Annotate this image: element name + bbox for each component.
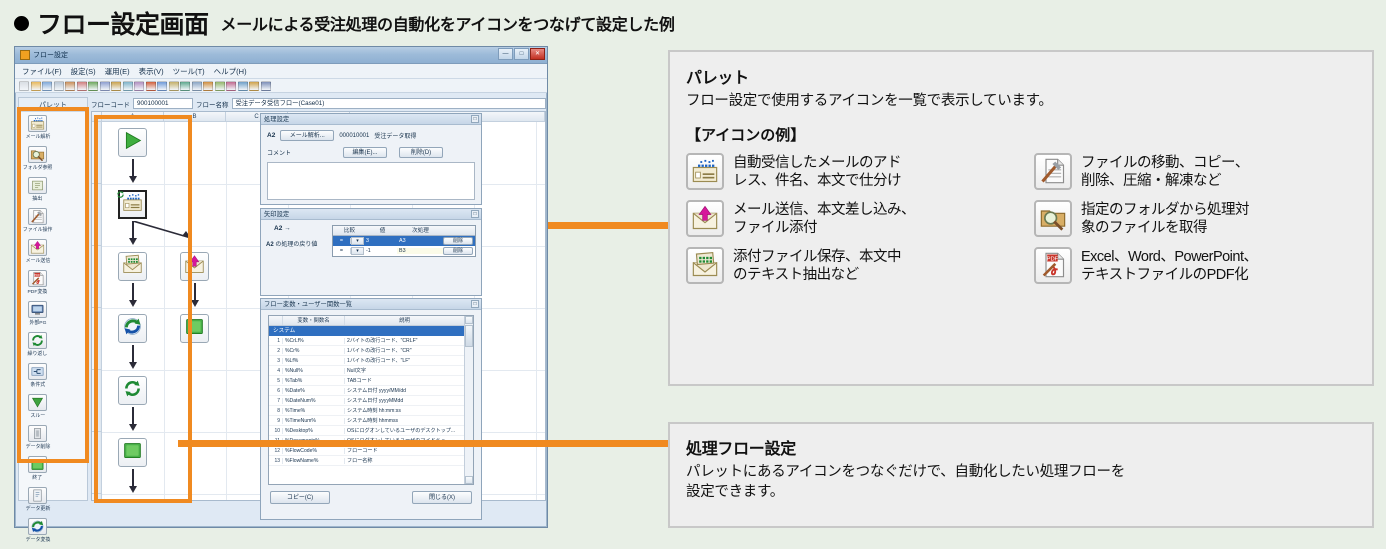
menu-view[interactable]: 表示(V) <box>139 66 164 77</box>
delete-button[interactable]: 削除(D) <box>399 147 443 158</box>
toolbar-button-10[interactable] <box>123 81 133 91</box>
toolbar-button-12[interactable] <box>146 81 156 91</box>
menu-help[interactable]: ヘルプ(H) <box>214 66 247 77</box>
variable-name: %Tab% <box>283 378 345 384</box>
attachment-save-icon <box>686 247 724 284</box>
icon-examples-left-column: 自動受信したメールのアドレス、件名、本文で仕分け メール送信、本文差し込み、ファ… <box>686 153 1008 294</box>
variable-no: 8 <box>269 408 283 414</box>
arrow-from-label: A2 <box>274 225 282 232</box>
variable-name: %Desktop% <box>283 428 345 434</box>
variable-row[interactable]: 12%FlowCode%フローコード <box>269 446 464 456</box>
variable-name: %FlowCode% <box>283 448 345 454</box>
palette-callout-body: フロー設定で使用するアイコンを一覧で表示しています。 <box>686 92 1356 112</box>
palette-item-label: 終了 <box>33 474 43 481</box>
variable-no: 1 <box>269 338 283 344</box>
variable-name: %Time% <box>283 408 345 414</box>
arrow-condition-row[interactable]: =▾3A3削除 <box>333 236 475 246</box>
menu-file[interactable]: ファイル(F) <box>22 66 62 77</box>
arrow-dialog-title-text: 矢印設定 <box>264 211 289 218</box>
pdf-convert-icon: PDF <box>1034 247 1072 284</box>
toolbar-button-11[interactable] <box>134 81 144 91</box>
arrow-compare-dropdown[interactable]: ▾ <box>351 247 364 255</box>
variable-desc: OSにログオンしているユーザのデスクトップ... <box>345 427 464 434</box>
menu-tools[interactable]: ツール(T) <box>173 66 205 77</box>
minimize-button[interactable]: — <box>498 48 513 60</box>
variable-desc: システム時刻 hh:mm:ss <box>345 407 464 414</box>
variable-row[interactable]: 13%FlowName%フロー名称 <box>269 456 464 466</box>
menu-operation[interactable]: 運用(E) <box>105 66 130 77</box>
variable-no: 9 <box>269 418 283 424</box>
app-logo-icon <box>20 50 30 60</box>
icon-example-row: 指定のフォルダから処理対象のファイルを取得 <box>1034 200 1356 238</box>
arrow-compare-dropdown[interactable]: ▾ <box>351 237 364 245</box>
process-dialog-title-text: 処理設定 <box>264 116 289 123</box>
flow-arrow[interactable] <box>194 283 196 301</box>
arrow-delete-button[interactable]: 削除 <box>443 247 473 255</box>
palette-item-12[interactable]: データ更新 <box>21 487 54 512</box>
process-dialog-close-icon[interactable]: □ <box>471 115 479 123</box>
icon-example-row: 自動受信したメールのアドレス、件名、本文で仕分け <box>686 153 1008 191</box>
icon-example-text: ファイルの移動、コピー、削除、圧縮・解凍など <box>1081 153 1249 191</box>
arrow-col-next: 次処理 <box>399 226 442 235</box>
file-operation-icon <box>1034 153 1072 190</box>
icon-example-row: PDF Excel、Word、PowerPoint、テキストファイルのPDF化 <box>1034 247 1356 285</box>
icon-example-row: 添付ファイル保存、本文中のテキスト抽出など <box>686 247 1008 285</box>
variable-name: %DateNum% <box>283 398 345 404</box>
process-code-name: 受注データ取得 <box>374 131 416 140</box>
variable-no: 4 <box>269 368 283 374</box>
flow-code-label: フローコード <box>91 99 130 109</box>
data-convert-icon[interactable] <box>28 518 47 535</box>
close-dialog-button[interactable]: 閉じる(X) <box>412 491 472 504</box>
variable-desc: システム時刻 hhmmss <box>345 417 464 424</box>
variable-no: 3 <box>269 358 283 364</box>
toolbar-button-1[interactable] <box>19 81 29 91</box>
variable-dialog-title-text: フロー変数・ユーザー関数一覧 <box>264 301 352 308</box>
variable-desc: 2バイトの改行コード、"CRLF" <box>345 337 464 344</box>
icon-example-row: メール送信、本文差し込み、ファイル添付 <box>686 200 1008 238</box>
arrow-return-node: A2 <box>266 242 274 248</box>
toolbar-button-9[interactable] <box>111 81 121 91</box>
variable-row[interactable]: 5%Tab%TABコード <box>269 376 464 386</box>
arrow-glyph-icon: → <box>284 225 291 232</box>
window-controls[interactable]: — □ ✕ <box>498 48 545 60</box>
variable-no: 13 <box>269 458 283 464</box>
page-title: フロー設定画面 <box>37 5 209 41</box>
close-button[interactable]: ✕ <box>530 48 545 60</box>
variable-row[interactable]: 1%CrLf%2バイトの改行コード、"CRLF" <box>269 336 464 346</box>
icon-examples-label: 【アイコンの例】 <box>686 124 1356 145</box>
copy-button[interactable]: コピー(C) <box>270 491 330 504</box>
scroll-down-arrow-icon[interactable] <box>465 476 473 484</box>
arrow-rows-container[interactable]: =▾3A3削除=▾-1B3削除 <box>333 236 475 256</box>
flow-callout-body: パレットにあるアイコンをつなぐだけで、自動化したい処理フローを設定できます。 <box>686 463 1356 502</box>
icon-example-text: 自動受信したメールのアドレス、件名、本文で仕分け <box>733 153 901 191</box>
maximize-button[interactable]: □ <box>514 48 529 60</box>
variable-row[interactable]: 9%TimeNum%システム時刻 hhmmss <box>269 416 464 426</box>
arrow-delete-button[interactable]: 削除 <box>443 237 473 245</box>
variable-row[interactable]: 4%Null%Null文字 <box>269 366 464 376</box>
menu-settings[interactable]: 設定(S) <box>71 66 96 77</box>
arrow-col-value: 値 <box>366 226 399 235</box>
icon-example-text: 添付ファイル保存、本文中のテキスト抽出など <box>733 247 901 285</box>
variable-name: %CrLf% <box>283 338 345 344</box>
variable-no: 5 <box>269 378 283 384</box>
folder-browse-icon <box>1034 200 1072 237</box>
palette-connector-stub <box>548 222 555 229</box>
flow-name-label: フロー名称 <box>196 99 229 109</box>
variable-name: %Lf% <box>283 358 345 364</box>
toolbar-button-16[interactable] <box>192 81 202 91</box>
variable-name: %TimeNum% <box>283 418 345 424</box>
window-title: フロー設定 <box>33 50 68 60</box>
variable-desc: 1バイトの改行コード、"CR" <box>345 347 464 354</box>
variable-desc: システム日付 yyyyMMdd <box>345 397 464 404</box>
variable-row[interactable]: 8%Time%システム時刻 hh:mm:ss <box>269 406 464 416</box>
variable-scrollbar[interactable] <box>464 316 473 484</box>
toolbar-button-14[interactable] <box>169 81 179 91</box>
variable-row[interactable]: 2%Cr%1バイトの改行コード、"CR" <box>269 346 464 356</box>
variable-desc: 1バイトの改行コード、"LF" <box>345 357 464 364</box>
variable-row[interactable]: 7%DateNum%システム日付 yyyyMMdd <box>269 396 464 406</box>
variable-dialog-close-icon[interactable]: □ <box>471 300 479 308</box>
flow-identification-bar: フローコード 900100001 フロー名称 受注データ受信フロー(Case01… <box>91 97 546 110</box>
process-node-id: A2 <box>267 132 275 139</box>
svg-text:PDF: PDF <box>1047 257 1059 263</box>
toolbar-button-3[interactable] <box>42 81 52 91</box>
variable-row[interactable]: 3%Lf%1バイトの改行コード、"LF" <box>269 356 464 366</box>
process-settings-dialog: 処理設定 □ A2 メール解析... 000010001 受注データ取得 コメン… <box>260 113 482 205</box>
application-window: フロー設定 — □ ✕ ファイル(F) 設定(S) 運用(E) 表示(V) ツー… <box>14 46 548 528</box>
data-update-icon[interactable] <box>28 487 47 504</box>
variable-row[interactable]: 6%Date%システム日付 yyyy/MM/dd <box>269 386 464 396</box>
toolbar[interactable] <box>15 79 547 93</box>
arrow-dialog-title: 矢印設定 □ <box>261 209 481 220</box>
palette-highlight-box <box>17 107 89 463</box>
icon-example-text: Excel、Word、PowerPoint、テキストファイルのPDF化 <box>1081 247 1258 285</box>
variable-desc: フローコード <box>345 447 464 454</box>
variable-desc: Null文字 <box>345 367 464 374</box>
palette-connector-line <box>548 222 668 229</box>
icon-example-text: メール送信、本文差し込み、ファイル添付 <box>733 200 915 238</box>
variable-name: %Date% <box>283 388 345 394</box>
flow-callout-title: 処理フロー設定 <box>686 435 1356 459</box>
variable-no: 7 <box>269 398 283 404</box>
menu-bar: ファイル(F) 設定(S) 運用(E) 表示(V) ツール(T) ヘルプ(H) <box>15 64 547 79</box>
arrow-condition-table[interactable]: 比較 値 次処理 =▾3A3削除=▾-1B3削除 <box>332 225 476 257</box>
variable-no: 10 <box>269 428 283 434</box>
var-col-name: 変数・関数名 <box>283 316 345 325</box>
comment-label: コメント <box>267 148 291 157</box>
variable-list-dialog: フロー変数・ユーザー関数一覧 □ 変数・関数名 説明 システム 1%CrLf%2… <box>260 298 482 520</box>
variable-dialog-title: フロー変数・ユーザー関数一覧 □ <box>261 299 481 310</box>
variable-desc: フロー名称 <box>345 457 464 464</box>
variable-no: 6 <box>269 388 283 394</box>
toolbar-button-5[interactable] <box>65 81 75 91</box>
palette-item-13[interactable]: データ変換 <box>21 518 54 543</box>
toolbar-button-21[interactable] <box>249 81 259 91</box>
arrow-return-label: の処理の戻り値 <box>275 242 317 248</box>
arrow-condition-row[interactable]: =▾-1B3削除 <box>333 246 475 256</box>
variable-row[interactable]: 10%Desktop%OSにログオンしているユーザのデスクトップ... <box>269 426 464 436</box>
toolbar-button-4[interactable] <box>54 81 64 91</box>
toolbar-button-15[interactable] <box>180 81 190 91</box>
arrow-next-process[interactable]: A3 <box>397 238 443 244</box>
toolbar-button-8[interactable] <box>100 81 110 91</box>
variable-no: 12 <box>269 448 283 454</box>
arrow-next-process[interactable]: B3 <box>397 248 443 254</box>
icon-examples-right-column: ファイルの移動、コピー、削除、圧縮・解凍など 指定のフォルダから処理対象のファイ… <box>1034 153 1356 294</box>
page-header: フロー設定画面 メールによる受注処理の自動化をアイコンをつなげて設定した例 <box>14 6 675 40</box>
palette-item-label: データ更新 <box>25 505 50 512</box>
variable-desc: TABコード <box>345 377 464 384</box>
arrow-value[interactable]: 3 <box>364 238 397 244</box>
palette-callout-title: パレット <box>686 64 1356 88</box>
mail-parse-icon <box>686 153 724 190</box>
comment-textarea[interactable] <box>267 162 475 200</box>
flow-name-field[interactable]: 受注データ受信フロー(Case01) <box>232 98 547 109</box>
scroll-up-arrow-icon[interactable] <box>465 316 473 324</box>
page-subtitle: メールによる受注処理の自動化をアイコンをつなげて設定した例 <box>221 11 675 35</box>
toolbar-button-20[interactable] <box>238 81 248 91</box>
arrow-compare-value[interactable]: = <box>333 248 351 254</box>
scrollbar-thumb[interactable] <box>465 325 473 347</box>
process-type-button[interactable]: メール解析... <box>280 130 334 141</box>
palette-item-label: データ変換 <box>25 536 50 543</box>
window-titlebar: フロー設定 — □ ✕ <box>15 47 547 64</box>
edit-button[interactable]: 編集(E)... <box>343 147 387 158</box>
var-col-no <box>269 316 283 325</box>
variable-group-label: システム <box>273 328 295 334</box>
variable-no: 2 <box>269 348 283 354</box>
arrow-settings-dialog: 矢印設定 □ A2 → A2 の処理の戻り値 比較 値 次処理 <box>260 208 482 296</box>
process-dialog-title: 処理設定 □ <box>261 114 481 125</box>
arrow-col-compare: 比較 <box>333 226 366 235</box>
arrow-value[interactable]: -1 <box>364 248 397 254</box>
arrow-compare-value[interactable]: = <box>333 238 351 244</box>
toolbar-button-18[interactable] <box>215 81 225 91</box>
palette-callout: パレット フロー設定で使用するアイコンを一覧で表示しています。 【アイコンの例】… <box>668 50 1374 386</box>
icon-example-row: ファイルの移動、コピー、削除、圧縮・解凍など <box>1034 153 1356 191</box>
flow-callout: 処理フロー設定 パレットにあるアイコンをつなぐだけで、自動化したい処理フローを設… <box>668 422 1374 528</box>
toolbar-button-19[interactable] <box>226 81 236 91</box>
variable-name: %Null% <box>283 368 345 374</box>
flow-code-field[interactable]: 900100001 <box>133 98 193 109</box>
toolbar-button-13[interactable] <box>157 81 167 91</box>
bullet-icon <box>14 16 29 31</box>
icon-example-text: 指定のフォルダから処理対象のファイルを取得 <box>1081 200 1249 238</box>
mail-send-icon <box>686 200 724 237</box>
var-col-desc: 説明 <box>345 316 464 325</box>
toolbar-button-7[interactable] <box>88 81 98 91</box>
flow-connector-line <box>178 440 670 447</box>
variable-desc: システム日付 yyyy/MM/dd <box>345 387 464 394</box>
variable-name: %FlowName% <box>283 458 345 464</box>
toolbar-button-22[interactable] <box>261 81 271 91</box>
variable-group-row[interactable]: システム <box>269 326 464 336</box>
toolbar-button-17[interactable] <box>203 81 213 91</box>
variable-name: %Cr% <box>283 348 345 354</box>
toolbar-button-2[interactable] <box>31 81 41 91</box>
process-code: 000010001 <box>339 133 369 139</box>
arrow-dialog-close-icon[interactable]: □ <box>471 210 479 218</box>
toolbar-button-6[interactable] <box>77 81 87 91</box>
